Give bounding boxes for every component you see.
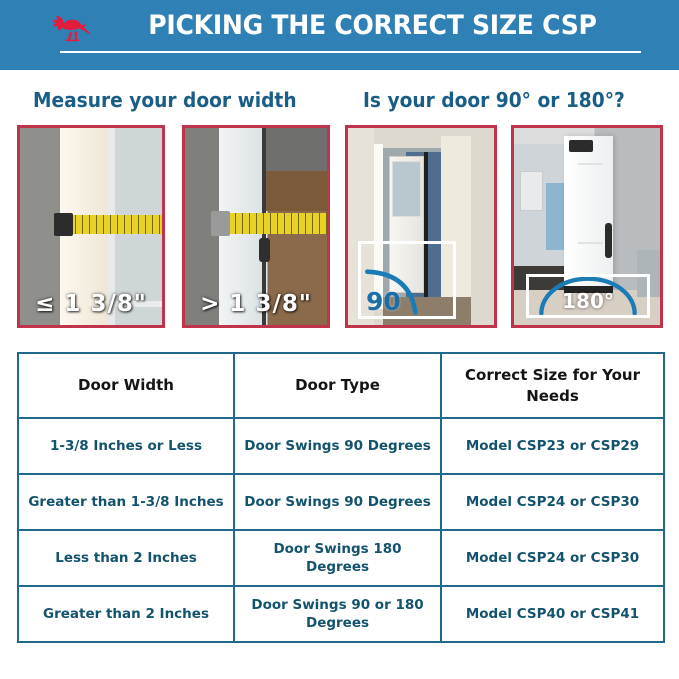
door-stopper [259, 238, 270, 262]
header-banner: PICKING THE CORRECT SIZE CSP [0, 0, 679, 70]
photo-caption: > 1 3/8" [185, 291, 327, 317]
photo-door-swing-180: 180° [511, 125, 663, 328]
door-handle [605, 223, 612, 258]
photo-door-swing-90: 90 [345, 125, 497, 328]
photo-door-width-small: ≤ 1 3/8" [17, 125, 165, 328]
table-row: Greater than 1-3/8 Inches Door Swings 90… [18, 474, 664, 530]
table-header-row: Door Width Door Type Correct Size for Yo… [18, 353, 664, 418]
tape-measure [221, 213, 328, 235]
cell-door-type: Door Swings 90 or 180 Degrees [234, 586, 441, 642]
angle-inset-box-180: 180° [526, 274, 650, 318]
photo-caption: ≤ 1 3/8" [20, 291, 162, 317]
cell-door-type: Door Swings 90 Degrees [234, 418, 441, 474]
cell-door-width: Less than 2 Inches [18, 530, 234, 586]
cell-door-type: Door Swings 90 Degrees [234, 474, 441, 530]
cell-door-width: Greater than 1-3/8 Inches [18, 474, 234, 530]
tape-hook [54, 213, 72, 237]
angle-label: 180° [529, 291, 647, 311]
header-banner-inner: PICKING THE CORRECT SIZE CSP [42, 0, 643, 70]
cell-door-width: Greater than 2 Inches [18, 586, 234, 642]
title-underline [60, 51, 641, 53]
section-heading-measure-width: Measure your door width [33, 88, 297, 112]
cell-correct-size: Model CSP24 or CSP30 [441, 530, 664, 586]
tape-measure [61, 215, 162, 235]
tape-ticks [61, 215, 162, 235]
far-wall [266, 128, 327, 171]
angle-inset-box-90: 90 [358, 241, 456, 319]
size-selection-table: Door Width Door Type Correct Size for Yo… [17, 352, 665, 643]
open-door-panel [564, 136, 614, 290]
angle-label: 90 [366, 289, 401, 314]
section-heading-door-angle: Is your door 90° or 180°? [363, 88, 625, 112]
table-row: Less than 2 Inches Door Swings 180 Degre… [18, 530, 664, 586]
cell-correct-size: Model CSP40 or CSP41 [441, 586, 664, 642]
column-header-door-type: Door Type [234, 353, 441, 418]
table-row: 1-3/8 Inches or Less Door Swings 90 Degr… [18, 418, 664, 474]
photo-door-width-large: > 1 3/8" [182, 125, 330, 328]
door-glass-panes [392, 161, 421, 216]
door-panel-line [578, 163, 603, 165]
cardinal-bird-icon [46, 14, 94, 48]
wall-picture [520, 171, 543, 210]
wood-wall [266, 171, 327, 210]
column-header-correct-size: Correct Size for Your Needs [441, 353, 664, 418]
cell-correct-size: Model CSP24 or CSP30 [441, 474, 664, 530]
cell-door-width: 1-3/8 Inches or Less [18, 418, 234, 474]
door-closer [569, 140, 592, 152]
column-header-door-width: Door Width [18, 353, 234, 418]
table-row: Greater than 2 Inches Door Swings 90 or … [18, 586, 664, 642]
tape-hook [211, 211, 231, 237]
page-title: PICKING THE CORRECT SIZE CSP [121, 7, 624, 45]
tape-ticks [221, 213, 328, 235]
door-panel-line-2 [578, 242, 603, 244]
cell-correct-size: Model CSP23 or CSP29 [441, 418, 664, 474]
cell-door-type: Door Swings 180 Degrees [234, 530, 441, 586]
